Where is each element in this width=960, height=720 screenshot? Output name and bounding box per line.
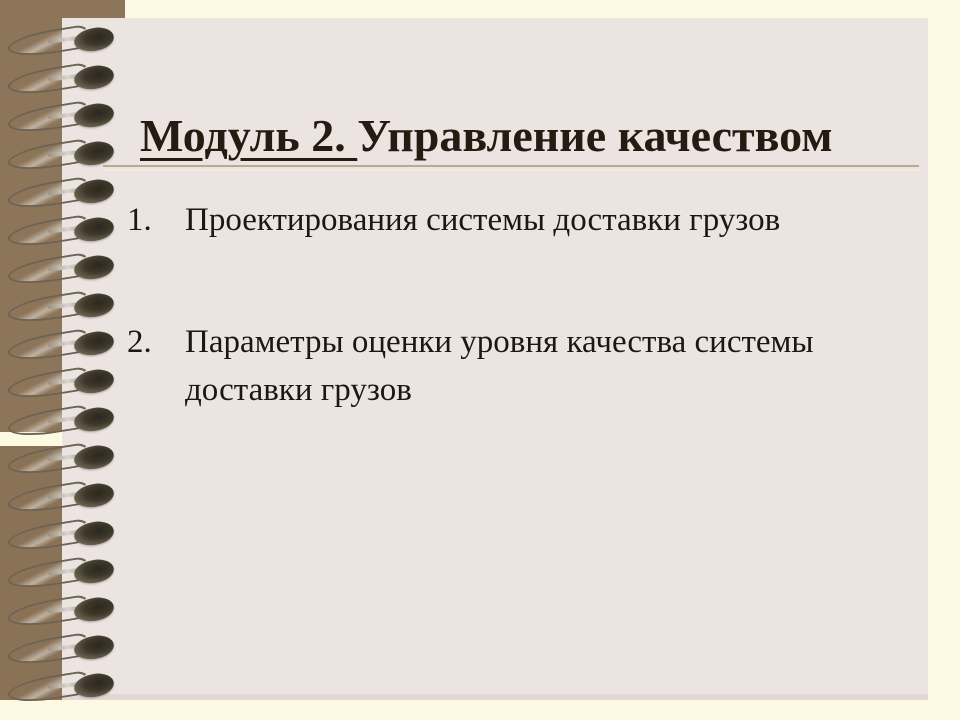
spiral-coil — [8, 406, 116, 436]
page-title-subject: Управление качеством — [357, 110, 832, 161]
list-item: 1. Проектирования системы доставки грузо… — [122, 196, 912, 244]
spiral-coil — [8, 140, 116, 170]
spiral-coil — [8, 520, 116, 550]
content-list: 1. Проектирования системы доставки грузо… — [122, 196, 912, 414]
spiral-coil — [8, 216, 116, 246]
list-item: 2. Параметры оценки уровня качества сист… — [122, 318, 912, 414]
list-item-marker: 2. — [122, 318, 185, 366]
binding-strip-top-overlap — [62, 0, 125, 18]
spiral-coil — [8, 292, 116, 322]
spiral-coil — [8, 558, 116, 588]
page-title: Модуль 2. Управление качеством — [140, 107, 920, 165]
spiral-coil — [8, 444, 116, 474]
spiral-coil — [8, 26, 116, 56]
slide-canvas: Модуль 2. Управление качеством 1. Проект… — [0, 0, 960, 720]
list-item-label: Параметры оценки уровня качества системы… — [185, 318, 875, 414]
spiral-coil — [8, 482, 116, 512]
page-title-module: Модуль 2. — [140, 110, 357, 161]
spiral-coil — [8, 634, 116, 664]
spiral-coil — [8, 254, 116, 284]
spiral-coil — [8, 64, 116, 94]
spiral-coil — [8, 102, 116, 132]
notebook-page-shadow — [62, 694, 928, 700]
spiral-coil — [8, 672, 116, 702]
spiral-coil — [8, 330, 116, 360]
list-item-label: Проектирования системы доставки грузов — [185, 196, 875, 244]
spiral-coil — [8, 596, 116, 626]
spiral-coil — [8, 368, 116, 398]
list-item-marker: 1. — [122, 196, 185, 244]
title-divider-highlight — [103, 169, 919, 171]
title-divider — [103, 165, 919, 167]
spiral-coil — [8, 178, 116, 208]
